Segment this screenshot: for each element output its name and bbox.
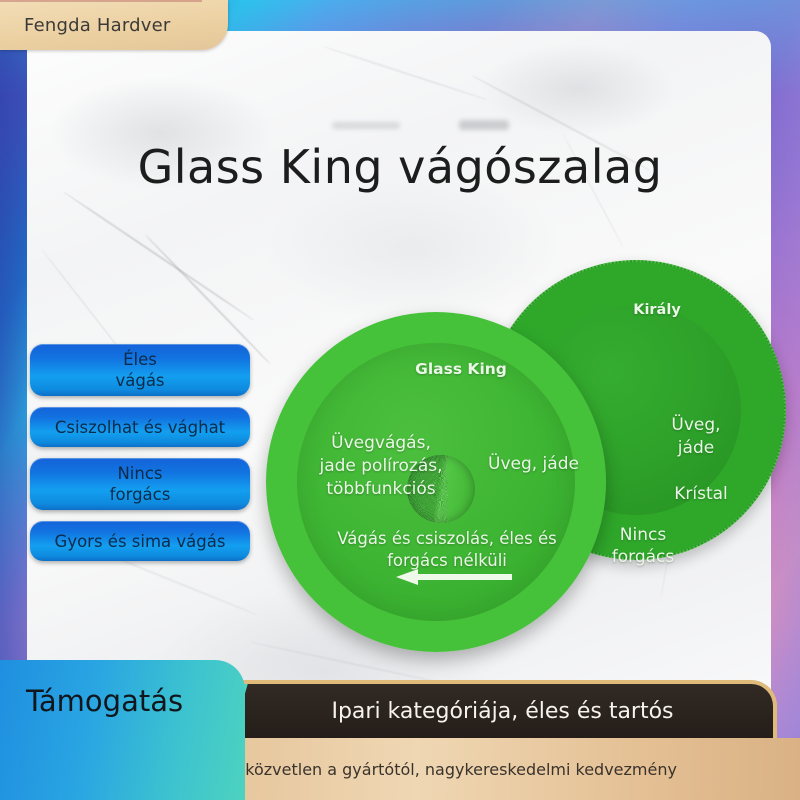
front-disc-brand-label: Glass King: [376, 360, 546, 378]
feature-pill-line: Gyors és sima vágás: [55, 531, 226, 552]
support-label: Támogatás: [26, 684, 183, 718]
brand-tab-rule: [0, 0, 202, 2]
front-disc-material-text: Üveg, jáde: [488, 454, 598, 474]
erased-text-smudge: [332, 122, 400, 129]
bottom-headline-bar: Ipari kategóriája, éles és tartós: [232, 680, 777, 738]
feature-pill-fast-smooth-cut[interactable]: Gyors és sima vágás: [30, 521, 250, 561]
feature-pill-line: Éles: [115, 349, 164, 370]
back-disc-material-text: Üveg, jáde: [656, 414, 736, 460]
feature-pill-sharp-cut[interactable]: Éles vágás: [30, 344, 250, 396]
promo-headline: Ipari kategóriája, éles és tartós: [331, 699, 673, 724]
back-disc-crystal-text: Krístal: [656, 484, 746, 504]
product-discs: Király Üveg, jáde Krístal Nincs forgács …: [258, 252, 778, 652]
left-arrow-icon: [394, 568, 514, 586]
back-disc-brand-label: Király: [612, 302, 702, 318]
brand-name: Fengda Hardver: [24, 15, 170, 36]
feature-pill-line: vágás: [115, 370, 164, 391]
page-title: Glass King vágószalag: [0, 140, 800, 194]
front-disc-left-text: Üvegvágás, jade polírozás, többfunkciós: [316, 432, 446, 501]
feature-pill-line: Nincs: [110, 463, 171, 484]
marble-vein: [324, 46, 486, 100]
support-panel: Támogatás: [0, 660, 245, 800]
marble-vein: [63, 191, 255, 321]
erased-text-smudge: [459, 120, 509, 130]
feature-pill-grind-and-cut[interactable]: Csiszolhat és vághat: [30, 407, 250, 447]
back-disc-chip-text: Nincs forgács: [598, 524, 688, 568]
feature-pill-list: Éles vágás Csiszolhat és vághat Nincs fo…: [30, 344, 252, 572]
feature-pill-no-chipping[interactable]: Nincs forgács: [30, 458, 250, 510]
feature-pill-line: Csiszolhat és vághat: [55, 417, 225, 438]
product-poster: Fengda Hardver Glass King vágószalag Éle…: [0, 0, 800, 800]
front-disc-bottom-text: Vágás és csiszolás, éles és forgács nélk…: [332, 528, 562, 572]
feature-pill-line: forgács: [110, 484, 171, 505]
brand-tab: Fengda Hardver: [0, 0, 228, 50]
